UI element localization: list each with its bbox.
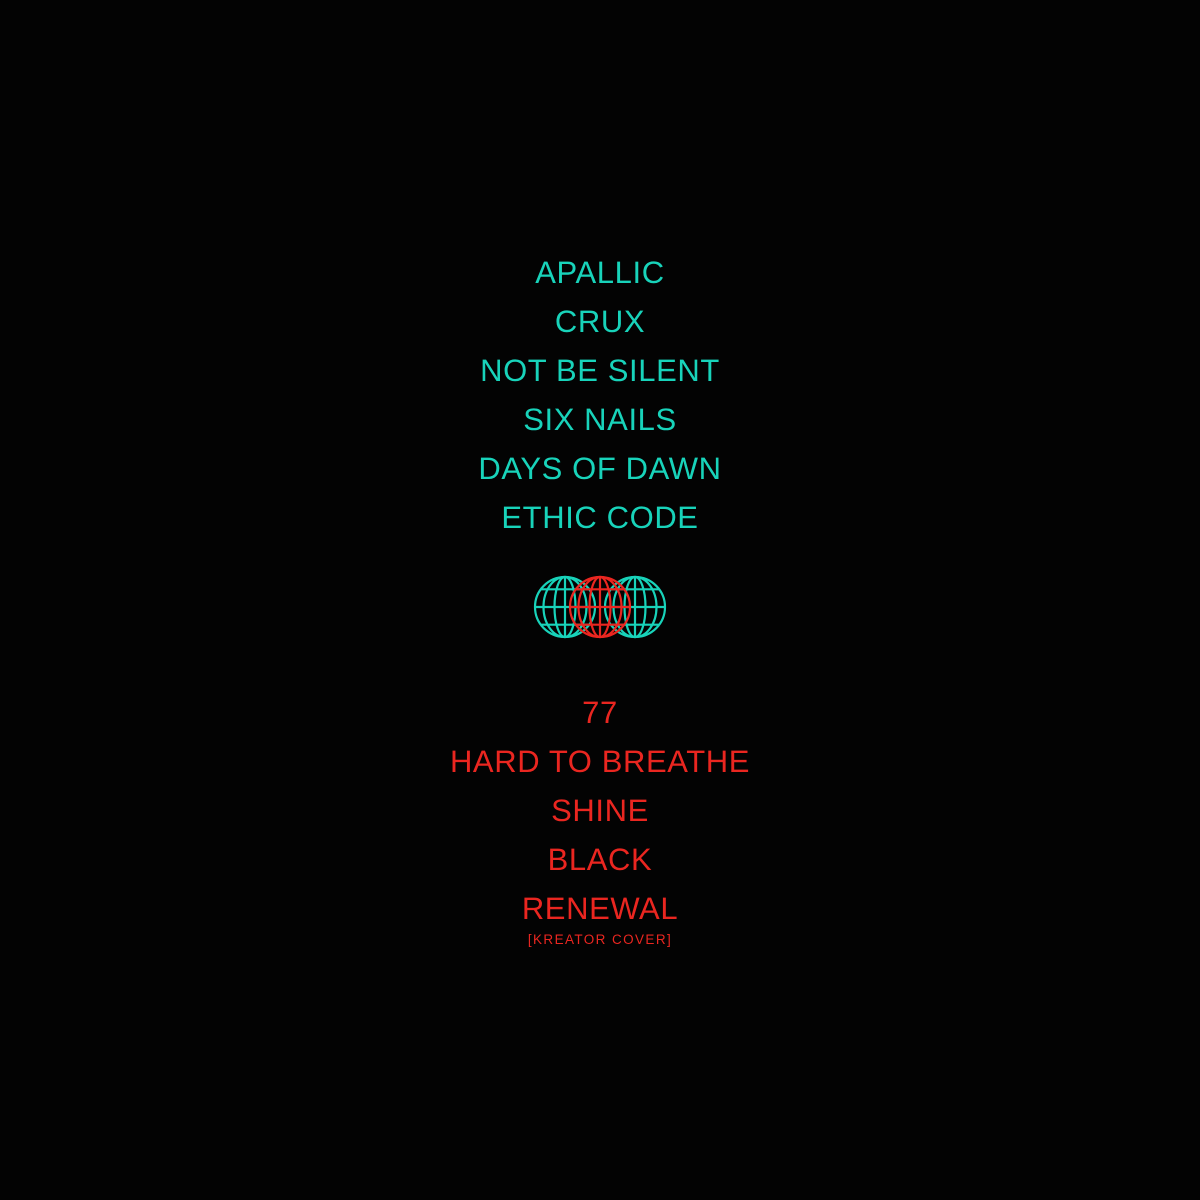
track-item: RENEWAL: [522, 884, 678, 933]
track-item: HARD TO BREATHE: [450, 737, 750, 786]
track-item: APALLIC: [535, 248, 664, 297]
side-b-tracklist: 77 HARD TO BREATHE SHINE BLACK RENEWAL […: [0, 688, 1200, 948]
track-item: SHINE: [551, 786, 649, 835]
track-item: SIX NAILS: [523, 395, 677, 444]
track-item: DAYS OF DAWN: [478, 444, 721, 493]
track-item: CRUX: [555, 297, 645, 346]
track-item: 77: [582, 688, 618, 737]
track-subtitle: [KREATOR COVER]: [528, 931, 672, 948]
triple-globe-icon: [529, 570, 671, 640]
side-a-tracklist: APALLIC CRUX NOT BE SILENT SIX NAILS DAY…: [0, 248, 1200, 542]
track-item: ETHIC CODE: [501, 493, 698, 542]
track-item: NOT BE SILENT: [480, 346, 720, 395]
globe-center-icon: [570, 577, 630, 637]
track-item: BLACK: [548, 835, 653, 884]
album-artwork: APALLIC CRUX NOT BE SILENT SIX NAILS DAY…: [0, 0, 1200, 1200]
triple-globe-logo: [529, 570, 671, 640]
